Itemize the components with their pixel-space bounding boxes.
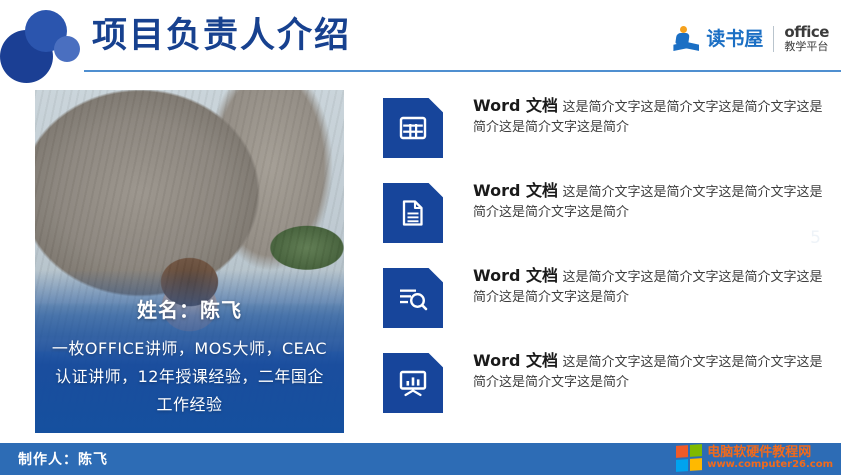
site-watermark: 电脑软硬件教程网 www.computer26.com [676,443,833,473]
feature-title: Word 文档 [473,351,558,370]
feature-title: Word 文档 [473,96,558,115]
page-title: 项目负责人介绍 [92,16,351,56]
footer-author: 制作人：陈飞 [18,449,108,469]
feature-item[interactable]: Word 文档 这是简介文字这是简介文字这是简介文字这是简介这是简介文字这是简介 [383,96,823,181]
table-grid-icon [383,98,443,158]
brand-tagline: office 教学平台 [784,25,829,52]
page-number: 5 [810,228,821,248]
feature-item[interactable]: Word 文档 这是简介文字这是简介文字这是简介文字这是简介这是简介文字这是简介 [383,266,823,351]
circle-large-icon [0,30,53,83]
brand-office-label: office [784,25,829,41]
brand-name: 读书屋 [706,30,763,49]
circle-medium-icon [25,10,67,52]
document-search-icon [383,268,443,328]
feature-item[interactable]: Word 文档 这是简介文字这是简介文字这是简介文字这是简介这是简介文字这是简介 [383,351,823,436]
feature-title: Word 文档 [473,181,558,200]
feature-text: Word 文档 这是简介文字这是简介文字这是简介文字这是简介这是简介文字这是简介 [473,96,823,138]
feature-title: Word 文档 [473,266,558,285]
brand-sub-label: 教学平台 [784,41,829,53]
feature-text: Word 文档 这是简介文字这是简介文字这是简介文字这是简介这是简介文字这是简介 [473,181,823,223]
decorative-circles [0,8,95,84]
reader-book-icon [673,26,699,52]
document-lines-icon [383,183,443,243]
caption-body: 一枚OFFICE讲师，MOS大师，CEAC认证讲师，12年授课经验，二年国企工作… [51,335,328,419]
watermark-text: 电脑软硬件教程网 www.computer26.com [707,446,833,470]
feature-text: Word 文档 这是简介文字这是简介文字这是简介文字这是简介这是简介文字这是简介 [473,266,823,308]
title-divider [84,70,841,72]
feature-list: Word 文档 这是简介文字这是简介文字这是简介文字这是简介这是简介文字这是简介… [383,96,823,436]
caption-name: 姓名：陈飞 [51,294,328,323]
photo-caption: 姓名：陈飞 一枚OFFICE讲师，MOS大师，CEAC认证讲师，12年授课经验，… [35,294,344,433]
slide-canvas: 项目负责人介绍 读书屋 office 教学平台 姓名：陈飞 一枚OFFICE讲师… [0,0,841,475]
presentation-chart-icon [383,353,443,413]
circle-small-icon [54,36,80,62]
brand-logo: 读书屋 office 教学平台 [673,22,829,56]
feature-item[interactable]: Word 文档 这是简介文字这是简介文字这是简介文字这是简介这是简介文字这是简介 [383,181,823,266]
brand-divider [773,26,774,52]
feature-text: Word 文档 这是简介文字这是简介文字这是简介文字这是简介这是简介文字这是简介 [473,351,823,393]
watermark-site-url: www.computer26.com [707,460,833,471]
watermark-site-name: 电脑软硬件教程网 [707,446,833,460]
windows-logo-icon [676,444,702,472]
portrait-photo-card: 姓名：陈飞 一枚OFFICE讲师，MOS大师，CEAC认证讲师，12年授课经验，… [35,90,344,433]
